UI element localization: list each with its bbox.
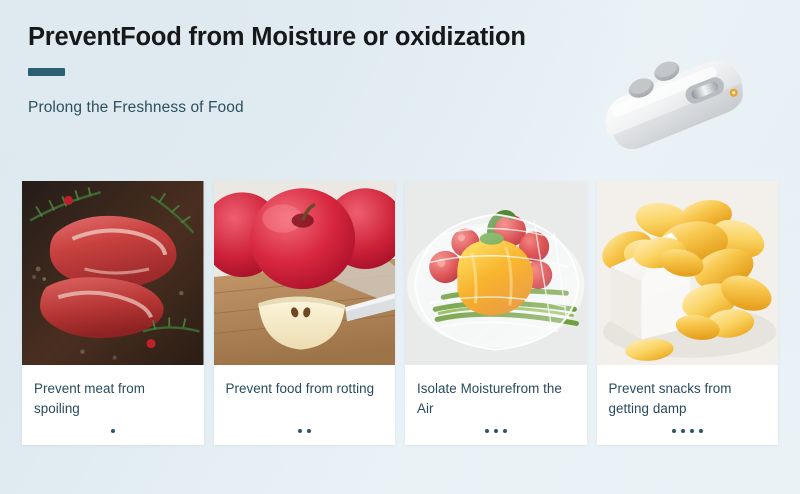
dot [111, 429, 115, 433]
card-dot-indicator [609, 429, 767, 433]
page-title: PreventFood from Moisture or oxidization [28, 22, 588, 52]
dot [699, 429, 703, 433]
feature-card-fruit[interactable]: Prevent food from rotting [214, 181, 396, 445]
feature-card-caption: Prevent food from rotting [226, 379, 384, 399]
feature-card-snacks[interactable]: Prevent snacks from getting damp [597, 181, 779, 445]
feature-card-list: Prevent meat from spoiling [22, 181, 778, 445]
dot [298, 429, 302, 433]
feature-card-body: Isolate Moisturefrom the Air [405, 365, 587, 445]
header: PreventFood from Moisture or oxidization… [28, 22, 588, 118]
feature-card-meat[interactable]: Prevent meat from spoiling [22, 181, 204, 445]
dot [485, 429, 489, 433]
dot [494, 429, 498, 433]
dot [503, 429, 507, 433]
dot [690, 429, 694, 433]
feature-card-body: Prevent meat from spoiling [22, 365, 204, 445]
page-subtitle: Prolong the Freshness of Food [28, 98, 588, 118]
card-dot-indicator [417, 429, 575, 433]
feature-card-body: Prevent snacks from getting damp [597, 365, 779, 445]
title-accent-bar [28, 68, 65, 76]
card-dot-indicator [34, 429, 192, 433]
hero-product-image [584, 44, 764, 166]
red-apples-on-cutting-board-image [214, 181, 396, 365]
dot [307, 429, 311, 433]
dot [681, 429, 685, 433]
feature-card-caption: Prevent meat from spoiling [34, 379, 192, 419]
potato-chips-in-paper-bag-image [597, 181, 779, 365]
raw-steak-with-rosemary-image [22, 181, 204, 365]
card-dot-indicator [226, 429, 384, 433]
dot [672, 429, 676, 433]
feature-card-caption: Prevent snacks from getting damp [609, 379, 767, 419]
slide-canvas: PreventFood from Moisture or oxidization… [0, 0, 800, 494]
feature-card-body: Prevent food from rotting [214, 365, 396, 445]
handheld-vacuum-sealer-icon [584, 44, 764, 166]
vacuum-sealed-vegetables-image [405, 181, 587, 365]
feature-card-caption: Isolate Moisturefrom the Air [417, 379, 575, 419]
feature-card-vegetables[interactable]: Isolate Moisturefrom the Air [405, 181, 587, 445]
